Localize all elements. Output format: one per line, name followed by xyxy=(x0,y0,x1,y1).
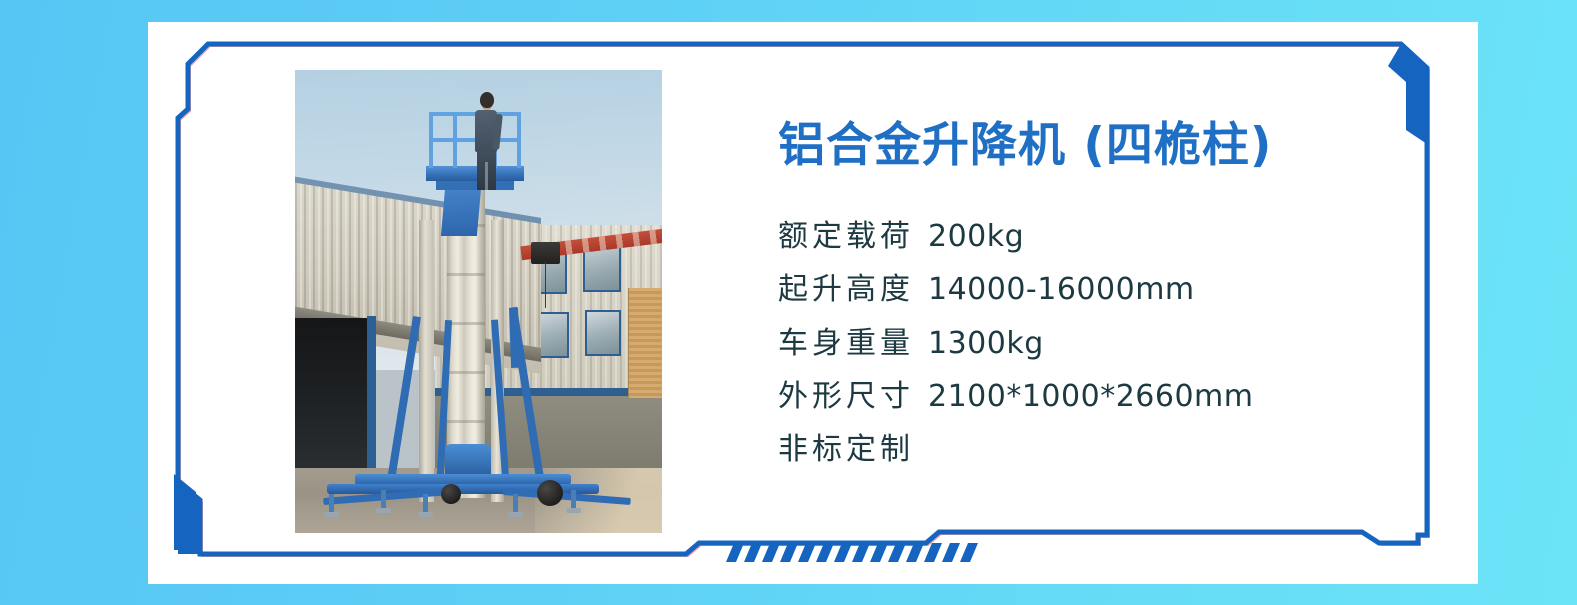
spec-row: 车身重量1300kg xyxy=(778,317,1418,370)
corner-block-bottom-left-inner xyxy=(174,474,196,550)
spec-label: 外形尺寸 xyxy=(778,379,914,414)
product-photo-scene xyxy=(295,70,662,533)
spec-value: 2100*1000*2660mm xyxy=(928,379,1254,414)
stripe-decoration xyxy=(726,543,978,562)
spec-list: 额定载荷200kg 起升高度14000-16000mm 车身重量1300kg 外… xyxy=(778,210,1418,475)
spec-value: 14000-16000mm xyxy=(928,272,1195,307)
content-card: 铝合金升降机 (四桅柱) 额定载荷200kg 起升高度14000-16000mm… xyxy=(148,22,1478,584)
product-title: 铝合金升降机 (四桅柱) xyxy=(778,118,1418,174)
spec-row: 外形尺寸2100*1000*2660mm xyxy=(778,370,1418,423)
spec-value: 200kg xyxy=(928,219,1024,254)
spec-row: 非标定制 xyxy=(778,423,1418,476)
spec-value: 1300kg xyxy=(928,326,1044,361)
product-photo xyxy=(295,70,662,533)
product-info: 铝合金升降机 (四桅柱) 额定载荷200kg 起升高度14000-16000mm… xyxy=(778,118,1418,476)
spec-row: 额定载荷200kg xyxy=(778,210,1418,263)
spec-label: 起升高度 xyxy=(778,272,914,307)
product-banner: 铝合金升降机 (四桅柱) 额定载荷200kg 起升高度14000-16000mm… xyxy=(0,0,1577,605)
spec-label: 非标定制 xyxy=(778,432,914,467)
spec-label: 车身重量 xyxy=(778,326,914,361)
spec-label: 额定载荷 xyxy=(778,219,914,254)
photo-haze-overlay xyxy=(295,70,662,533)
spec-row: 起升高度14000-16000mm xyxy=(778,263,1418,316)
corner-block-bottom-left xyxy=(178,482,200,554)
